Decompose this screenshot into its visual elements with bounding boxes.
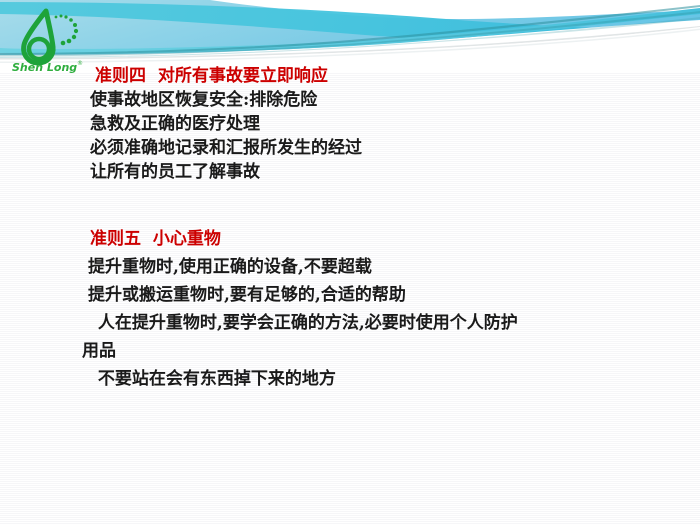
content-block-guideline-four: 准则四 对所有事故要立即响应 使事故地区恢复安全:排除危险 急救及正确的医疗处理… xyxy=(0,64,700,184)
block-1-line-3: 必须准确地记录和汇报所发生的经过 xyxy=(0,136,700,160)
content-block-guideline-five: 准则五 小心重物 提升重物时,使用正确的设备,不要超载 提升或搬运重物时,要有足… xyxy=(0,226,700,393)
block-2-line-2: 提升或搬运重物时,要有足够的,合适的帮助 xyxy=(0,281,700,309)
block-2-heading: 准则五 小心重物 xyxy=(0,226,700,253)
block-1-heading: 准则四 对所有事故要立即响应 xyxy=(0,64,700,88)
block-1-line-1: 使事故地区恢复安全:排除危险 xyxy=(0,88,700,112)
block-2-line-4: 用品 xyxy=(0,337,700,365)
block-2-line-5: 不要站在会有东西掉下来的地方 xyxy=(0,365,700,393)
block-1-line-2: 急救及正确的医疗处理 xyxy=(0,112,700,136)
presentation-slide: Shen Long ® 准则四 对所有事故要立即响应 使事故地区恢复安全:排除危… xyxy=(0,0,700,525)
block-2-line-3: 人在提升重物时,要学会正确的方法,必要时使用个人防护 xyxy=(0,309,700,337)
header-wave-graphic xyxy=(0,0,700,72)
block-2-line-1: 提升重物时,使用正确的设备,不要超载 xyxy=(0,253,700,281)
block-1-line-4: 让所有的员工了解事故 xyxy=(0,160,700,184)
header-wave-band xyxy=(0,0,700,72)
